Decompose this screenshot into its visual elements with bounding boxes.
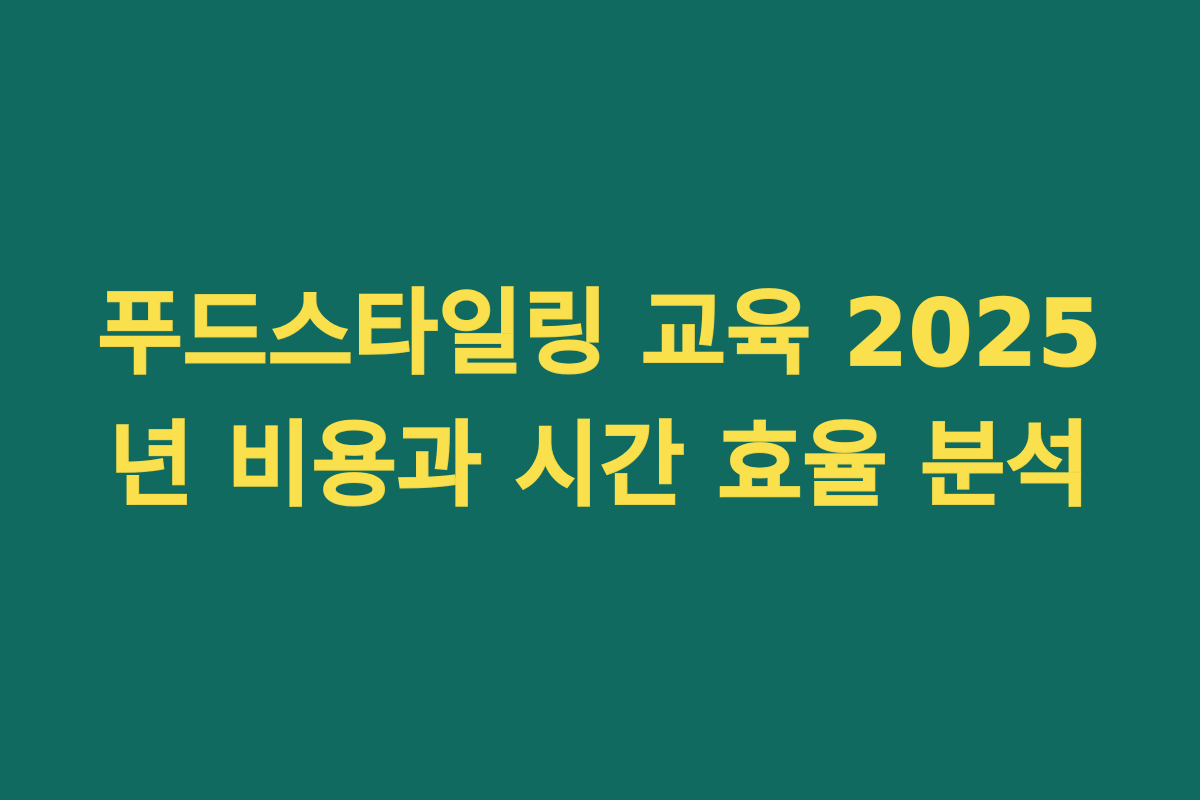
page-title: 푸드스타일링 교육 2025년 비용과 시간 효율 분석 [95, 268, 1105, 533]
title-block: 푸드스타일링 교육 2025년 비용과 시간 효율 분석 [95, 268, 1105, 533]
title-card: 푸드스타일링 교육 2025년 비용과 시간 효율 분석 [0, 0, 1200, 800]
